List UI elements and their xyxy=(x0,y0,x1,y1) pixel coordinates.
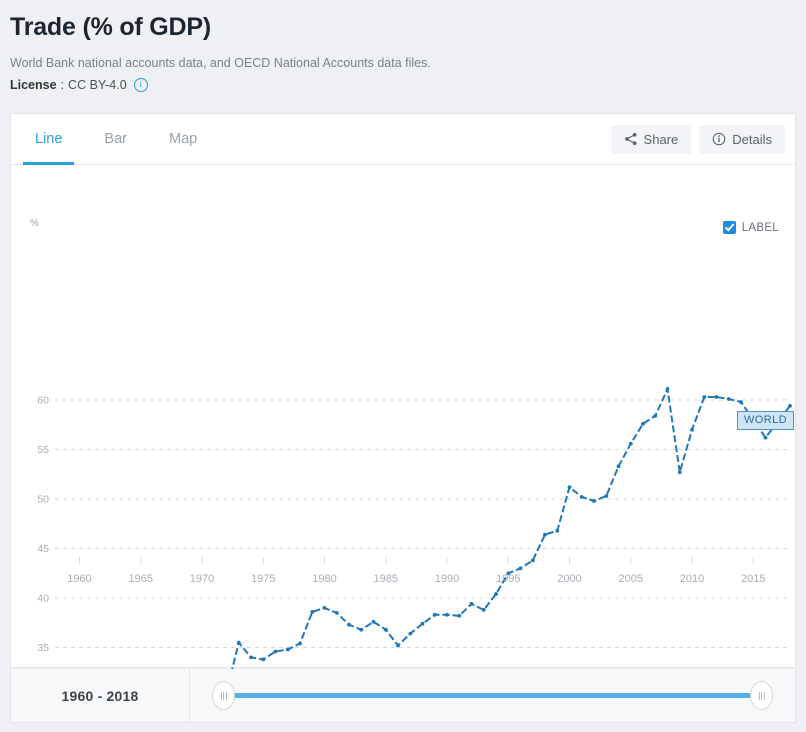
svg-text:1980: 1980 xyxy=(312,573,336,585)
svg-text:1970: 1970 xyxy=(190,573,214,585)
svg-text:1965: 1965 xyxy=(129,573,153,585)
svg-text:2015: 2015 xyxy=(741,573,765,585)
svg-text:1985: 1985 xyxy=(374,573,398,585)
slider-handle-left[interactable] xyxy=(212,681,235,710)
chart-action-buttons: Share Details xyxy=(611,125,785,154)
share-icon xyxy=(624,132,638,146)
svg-text:45: 45 xyxy=(37,543,49,555)
tab-bar-label: Bar xyxy=(104,131,127,147)
series-group xyxy=(200,387,792,669)
page-title: Trade (% of GDP) xyxy=(10,14,796,42)
data-source-text: World Bank national accounts data, and O… xyxy=(10,56,796,70)
series-line-world xyxy=(202,389,790,669)
chart-card: Line Bar Map Share xyxy=(10,113,796,668)
svg-text:55: 55 xyxy=(37,444,49,456)
x-axis-ticks: 1960196519701975198019851990199520002005… xyxy=(67,557,765,585)
year-range-slider[interactable] xyxy=(190,669,795,722)
chart-plot-area: % LABEL 2530354045505560 196019651970197… xyxy=(11,165,795,669)
slider-handle-right[interactable] xyxy=(750,681,773,710)
svg-text:1975: 1975 xyxy=(251,573,275,585)
svg-text:2005: 2005 xyxy=(619,573,643,585)
tab-map-label: Map xyxy=(169,131,197,147)
tab-map[interactable]: Map xyxy=(151,114,215,164)
chart-tabs: Line Bar Map xyxy=(11,114,215,164)
license-info-icon[interactable]: i xyxy=(134,78,148,92)
tab-line-label: Line xyxy=(35,131,62,147)
slider-track[interactable] xyxy=(222,693,763,698)
tab-line[interactable]: Line xyxy=(17,114,80,164)
details-button[interactable]: Details xyxy=(699,125,785,154)
gridlines xyxy=(55,400,790,669)
line-chart-svg[interactable]: 2530354045505560 19601965197019751980198… xyxy=(11,165,795,669)
chart-tab-bar: Line Bar Map Share xyxy=(11,114,795,165)
series-label-badge[interactable]: WORLD xyxy=(737,411,794,430)
details-button-label: Details xyxy=(732,132,772,147)
svg-text:2000: 2000 xyxy=(557,573,581,585)
info-circle-icon xyxy=(712,132,726,146)
svg-text:50: 50 xyxy=(37,494,49,506)
tab-bar[interactable]: Bar xyxy=(86,114,145,164)
svg-text:40: 40 xyxy=(37,593,49,605)
year-range-label: 1960 - 2018 xyxy=(11,669,190,722)
license-line: License : CC BY-4.0 i xyxy=(10,78,796,92)
page-header: Trade (% of GDP) World Bank national acc… xyxy=(0,0,806,92)
svg-text:35: 35 xyxy=(37,642,49,654)
share-button[interactable]: Share xyxy=(611,125,692,154)
svg-text:2010: 2010 xyxy=(680,573,704,585)
svg-text:1960: 1960 xyxy=(67,573,91,585)
share-button-label: Share xyxy=(644,132,679,147)
license-separator: : xyxy=(61,78,64,92)
series-points-world xyxy=(200,387,792,669)
svg-text:60: 60 xyxy=(37,395,49,407)
svg-text:1990: 1990 xyxy=(435,573,459,585)
year-range-footer: 1960 - 2018 xyxy=(10,669,796,723)
y-axis-ticks: 2530354045505560 xyxy=(37,395,49,670)
license-value: CC BY-4.0 xyxy=(68,78,127,92)
license-label: License xyxy=(10,78,57,92)
